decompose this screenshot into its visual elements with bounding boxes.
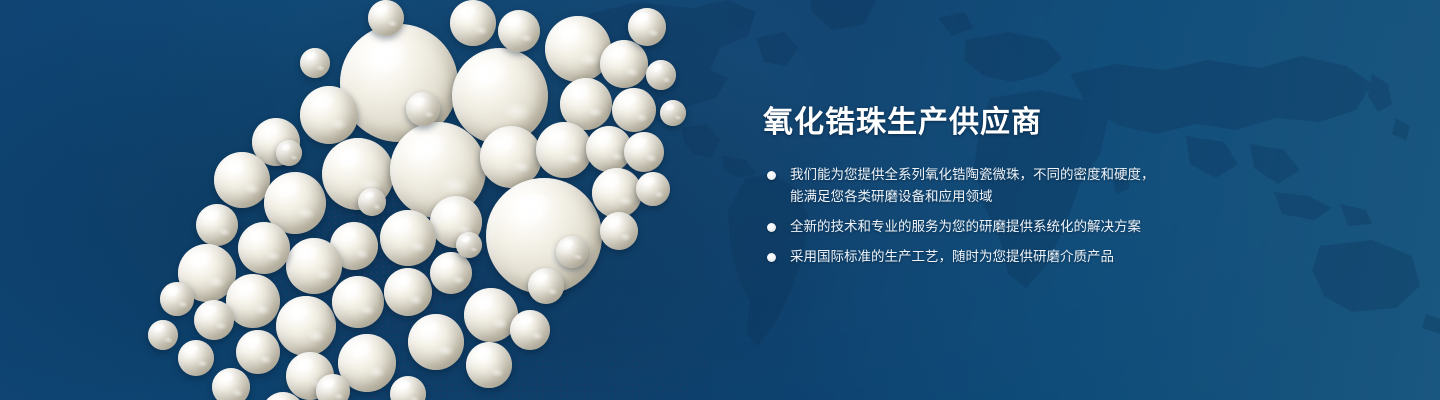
list-item: 全新的技术和专业的服务为您的研磨提供系统化的解决方案	[763, 216, 1233, 238]
feature-list: 我们能为您提供全系列氧化锆陶瓷微珠，不同的密度和硬度， 能满足您各类研磨设备和应…	[763, 164, 1233, 268]
bullet-dot-icon	[767, 171, 776, 180]
bullet-dot-icon	[767, 253, 776, 262]
hero-banner: 氧化锆珠生产供应商 我们能为您提供全系列氧化锆陶瓷微珠，不同的密度和硬度， 能满…	[0, 0, 1440, 400]
page-title: 氧化锆珠生产供应商	[763, 104, 1233, 142]
list-item-line1: 全新的技术和专业的服务为您的研磨提供系统化的解决方案	[790, 219, 1141, 234]
banner-content: 氧化锆珠生产供应商 我们能为您提供全系列氧化锆陶瓷微珠，不同的密度和硬度， 能满…	[763, 104, 1233, 268]
list-item: 采用国际标准的生产工艺，随时为您提供研磨介质产品	[763, 246, 1233, 268]
list-item-line2: 能满足您各类研磨设备和应用领域	[790, 186, 1233, 208]
list-item-line1: 我们能为您提供全系列氧化锆陶瓷微珠，不同的密度和硬度，	[790, 167, 1155, 182]
bullet-dot-icon	[767, 223, 776, 232]
list-item: 我们能为您提供全系列氧化锆陶瓷微珠，不同的密度和硬度， 能满足您各类研磨设备和应…	[763, 164, 1233, 208]
list-item-line1: 采用国际标准的生产工艺，随时为您提供研磨介质产品	[790, 249, 1114, 264]
